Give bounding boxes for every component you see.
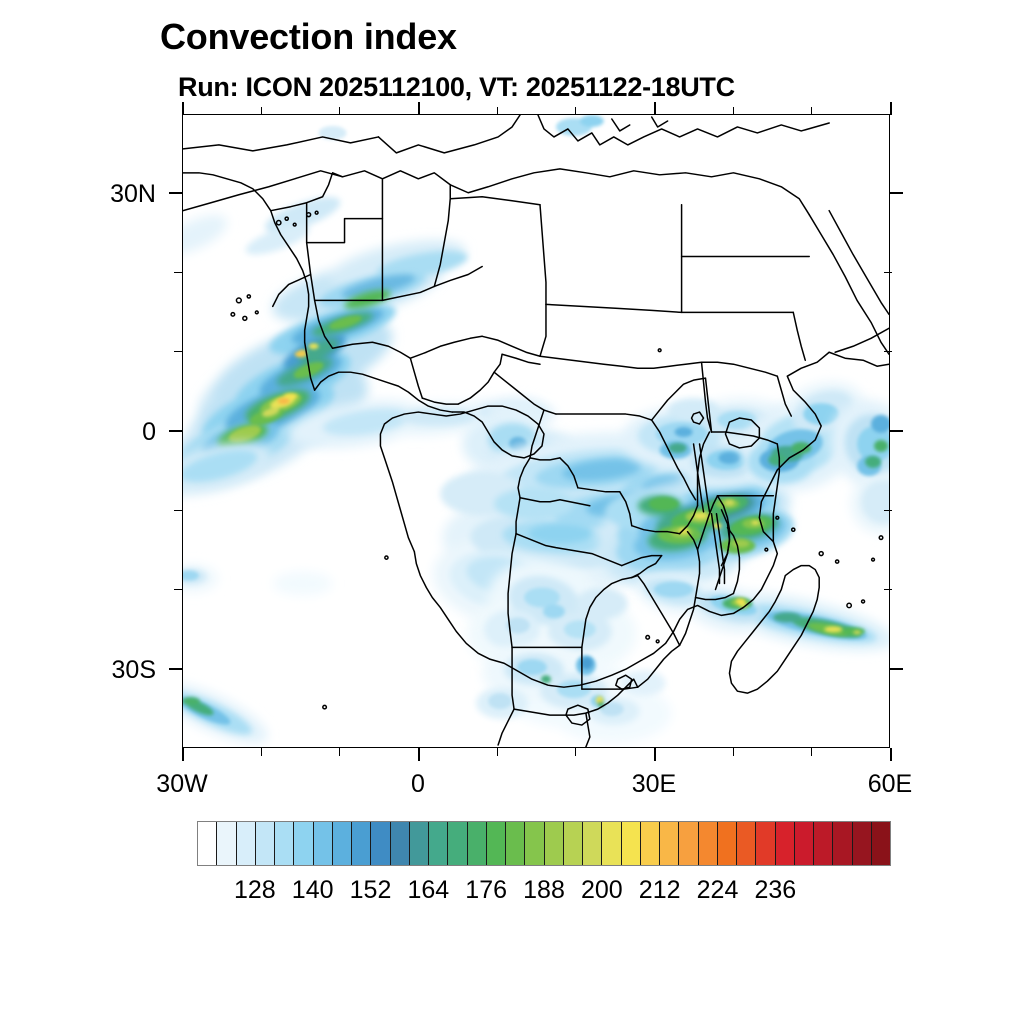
- colorbar-cell-4: [275, 822, 294, 865]
- colorbar-cell-29: [756, 822, 775, 865]
- run-valid-time-subtitle: Run: ICON 2025112100, VT: 20251122-18UTC: [178, 72, 735, 103]
- colorbar-cell-19: [564, 822, 583, 865]
- x-tick-label-30e: 30E: [594, 770, 714, 799]
- page-title: Convection index: [160, 16, 457, 58]
- colorbar-cell-15: [487, 822, 506, 865]
- colorbar-cell-17: [525, 822, 544, 865]
- colorbar-cell-1: [217, 822, 236, 865]
- colorbar-cell-24: [660, 822, 679, 865]
- colorbar-cell-10: [391, 822, 410, 865]
- map-plot-area: [182, 114, 890, 748]
- colorbar-cell-13: [448, 822, 467, 865]
- y-tick-label-30s: 30S: [28, 656, 156, 685]
- y-tick-label-0: 0: [28, 418, 156, 447]
- colorbar-cell-21: [602, 822, 621, 865]
- colorbar-cell-11: [410, 822, 429, 865]
- colorbar-cell-32: [814, 822, 833, 865]
- colorbar-cell-14: [468, 822, 487, 865]
- colorbar-cell-28: [737, 822, 756, 865]
- colorbar-cell-20: [583, 822, 602, 865]
- colorbar-cell-33: [833, 822, 852, 865]
- colorbar-cell-9: [371, 822, 390, 865]
- colorbar-cell-23: [641, 822, 660, 865]
- colorbar-cell-3: [256, 822, 275, 865]
- colorbar-cell-2: [237, 822, 256, 865]
- colorbar-cell-0: [198, 822, 217, 865]
- colorbar-cell-27: [718, 822, 737, 865]
- colorbar-cell-7: [333, 822, 352, 865]
- x-tick-label-30w: 30W: [122, 770, 242, 799]
- colorbar-cell-12: [429, 822, 448, 865]
- colorbar-cell-35: [872, 822, 890, 865]
- colorbar-cell-34: [853, 822, 872, 865]
- y-tick-label-30n: 30N: [28, 180, 156, 209]
- colorbar-cell-25: [679, 822, 698, 865]
- colorbar[interactable]: [197, 821, 891, 866]
- map-canvas: [183, 115, 889, 747]
- colorbar-cell-16: [506, 822, 525, 865]
- colorbar-cell-8: [352, 822, 371, 865]
- colorbar-cell-18: [545, 822, 564, 865]
- colorbar-cell-31: [795, 822, 814, 865]
- colorbar-cell-26: [699, 822, 718, 865]
- colorbar-tick-label-236: 236: [735, 876, 815, 905]
- colorbar-cell-6: [314, 822, 333, 865]
- colorbar-cell-22: [622, 822, 641, 865]
- colorbar-cell-5: [294, 822, 313, 865]
- x-tick-label-0: 0: [358, 770, 478, 799]
- colorbar-cell-30: [776, 822, 795, 865]
- convection-index-chart: Convection index Run: ICON 2025112100, V…: [0, 0, 1024, 1024]
- x-tick-label-60e: 60E: [830, 770, 950, 799]
